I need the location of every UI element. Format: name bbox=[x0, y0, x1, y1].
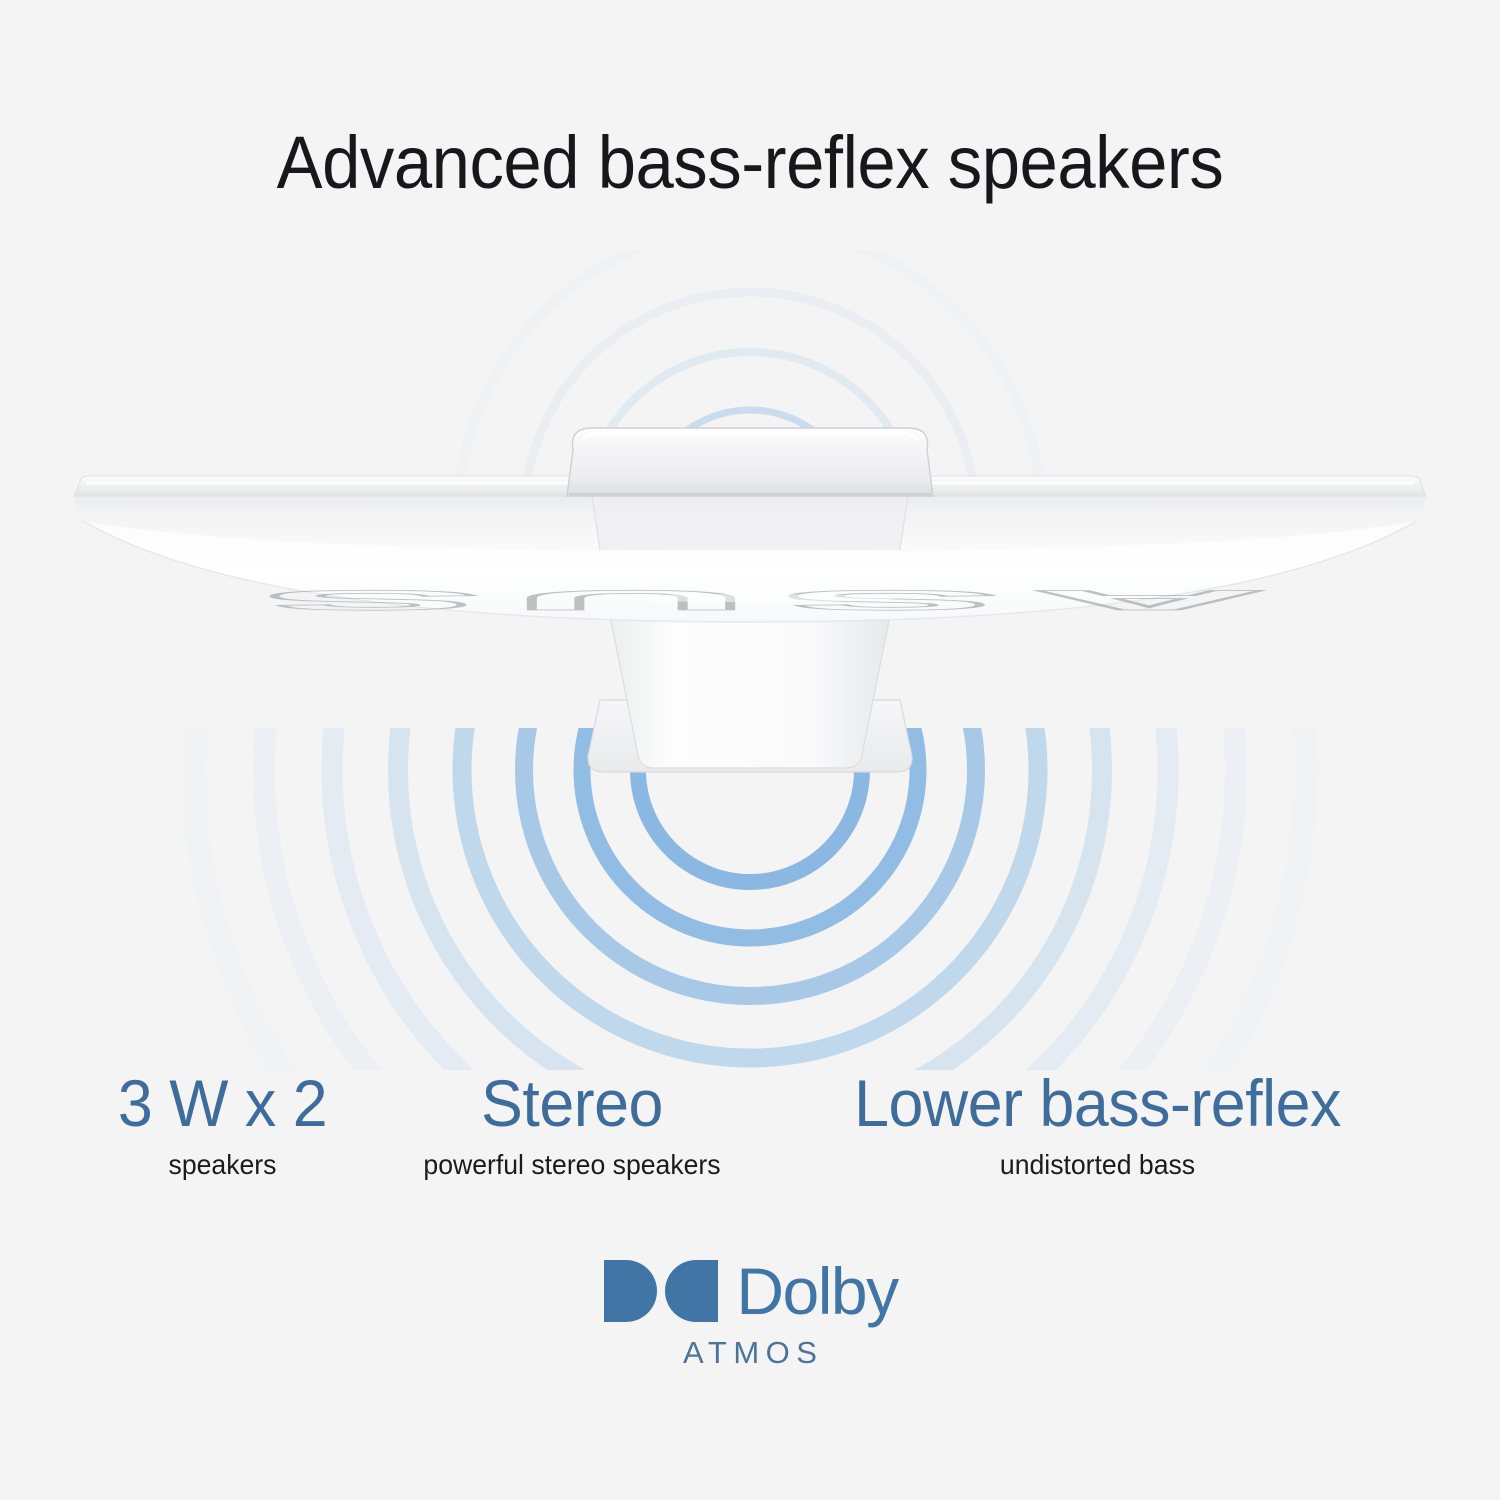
monitor-stand-neck bbox=[608, 606, 892, 768]
feature-item-power: 3 W x 2 speakers bbox=[30, 1068, 415, 1179]
promo-banner: Advanced bass-reflex speakers bbox=[0, 0, 1500, 1500]
monitor-hinge-recess bbox=[592, 496, 908, 550]
feature-list: 3 W x 2 speakers Stereo powerful stereo … bbox=[0, 1068, 1500, 1208]
feature-headline: Stereo bbox=[388, 1068, 757, 1139]
dolby-double-d-icon bbox=[602, 1258, 720, 1324]
feature-headline: Lower bass-reflex bbox=[763, 1068, 1433, 1139]
feature-item-stereo: Stereo powerful stereo speakers bbox=[378, 1068, 766, 1179]
page-title: Advanced bass-reflex speakers bbox=[53, 126, 1448, 200]
dolby-atmos-logo: Dolby ATMOS bbox=[0, 1255, 1500, 1368]
monitor-illustration: ASUS bbox=[0, 250, 1500, 1070]
product-hero-image: ASUS bbox=[0, 250, 1500, 1070]
dolby-wordmark: Dolby bbox=[736, 1258, 897, 1324]
dolby-wordmark-row: Dolby bbox=[0, 1255, 1500, 1327]
feature-caption: speakers bbox=[40, 1151, 406, 1179]
asus-logo-sheen bbox=[602, 594, 898, 602]
feature-caption: powerful stereo speakers bbox=[388, 1151, 757, 1179]
atmos-wordmark: ATMOS bbox=[0, 1337, 1500, 1368]
feature-item-bass-reflex: Lower bass-reflex undistorted bass bbox=[745, 1068, 1450, 1179]
monitor-hinge-cap bbox=[567, 428, 933, 496]
feature-caption: undistorted bass bbox=[763, 1151, 1433, 1179]
feature-headline: 3 W x 2 bbox=[40, 1068, 406, 1139]
